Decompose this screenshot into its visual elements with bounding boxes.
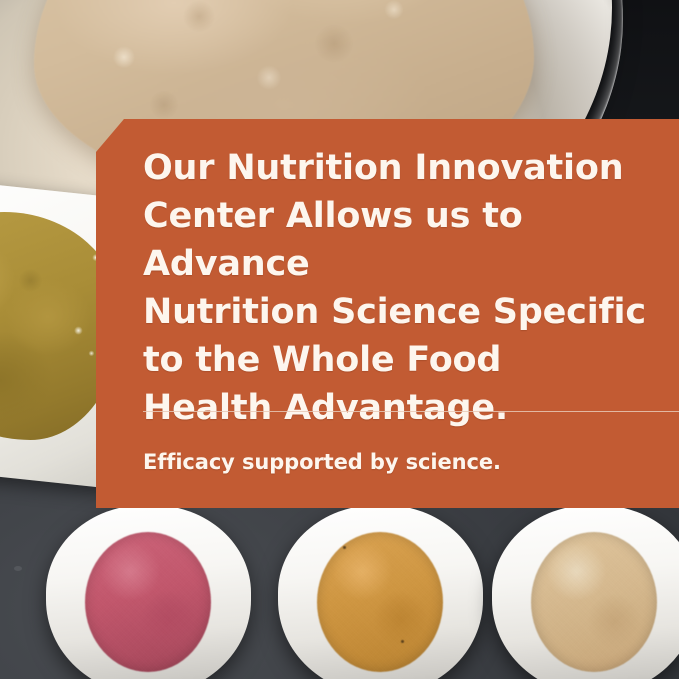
beige-powder xyxy=(531,532,657,672)
counter-speck-2 xyxy=(14,566,22,571)
orange-powder-grain xyxy=(317,532,443,672)
orange-powder-speck xyxy=(401,640,404,643)
promo-graphic: Our Nutrition Innovation Center Allows u… xyxy=(0,0,679,679)
orange-powder xyxy=(317,532,443,672)
pink-powder xyxy=(85,532,211,672)
horizontal-divider xyxy=(143,411,679,412)
orange-powder-speck xyxy=(343,546,346,549)
beige-powder-grain xyxy=(531,532,657,672)
subline-text: Efficacy supported by science. xyxy=(143,448,501,476)
pink-powder-grain xyxy=(85,532,211,672)
orange-callout-panel: Our Nutrition Innovation Center Allows u… xyxy=(96,119,679,508)
headline-text: Our Nutrition Innovation Center Allows u… xyxy=(143,144,679,432)
